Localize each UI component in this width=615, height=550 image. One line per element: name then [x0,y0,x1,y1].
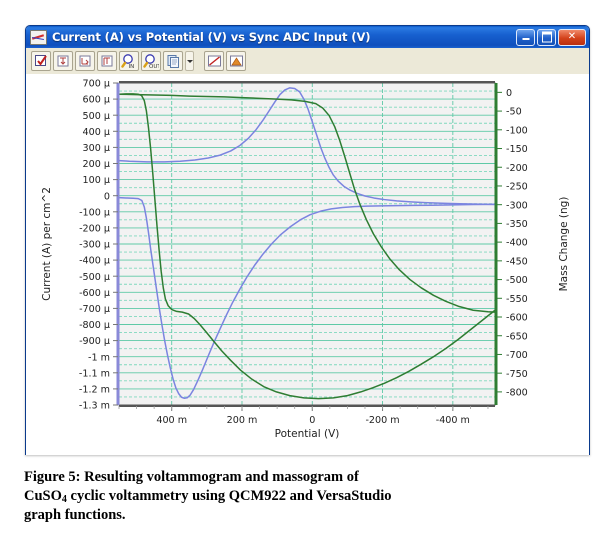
copy-tool[interactable] [163,51,183,71]
caption-line-1: Figure 5: Resulting voltammogram and mas… [24,468,590,487]
x-tick-label: 400 m [156,415,187,426]
left-tick-label: -1.2 m [79,385,110,396]
left-tick-label: -400 µ [79,256,110,267]
x-tick-label: -200 m [365,415,399,426]
zoom-in-icon: IN [121,53,137,69]
right-tick-label: -650 [506,331,528,342]
right-tick-label: -100 [506,125,528,136]
right-tick-label: -500 [506,275,528,286]
left-tick-label: 0 [104,191,110,202]
caption-line-3: graph functions. [24,506,590,525]
fill-style-icon [229,54,244,69]
y2-axis-title: Mass Change (ng) [558,197,570,292]
graph-window: Current (A) vs Potential (V) vs Sync ADC… [25,25,590,455]
right-tick-label: -600 [506,313,528,324]
right-tick-label: -550 [506,294,528,305]
select-icon [34,54,49,69]
left-tick-label: 700 µ [83,79,110,90]
left-tick-label: 500 µ [83,111,110,122]
title-bar[interactable]: Current (A) vs Potential (V) vs Sync ADC… [26,26,589,48]
zoom-out-icon: OUT [143,53,159,69]
left-tick-label: 600 µ [83,95,110,106]
fill-style-tool[interactable] [226,51,246,71]
right-tick-label: 0 [506,88,512,99]
left-tick-label: -1 m [88,352,110,363]
chart-line-icon [30,30,47,45]
line-style-tool[interactable] [204,51,224,71]
autoscale-x-tool[interactable] [75,51,95,71]
right-tick-label: -250 [506,182,528,193]
left-tick-label: 200 µ [83,159,110,170]
right-tick-label: -50 [506,107,522,118]
svg-text:OUT: OUT [149,64,159,69]
autoscale-both-icon [100,54,115,69]
left-tick-label: -200 µ [79,224,110,235]
chart-render-group: 700 µ600 µ500 µ400 µ300 µ200 µ100 µ0-100… [41,79,570,440]
close-button[interactable]: ✕ [558,29,586,46]
maximize-button[interactable] [537,29,556,46]
left-tick-label: 300 µ [83,143,110,154]
window-controls: ✕ [516,29,587,46]
left-tick-label: -800 µ [79,320,110,331]
right-tick-label: -800 [506,387,528,398]
left-tick-label: -300 µ [79,240,110,251]
right-tick-label: -300 [506,200,528,211]
caption-line-2: CuSO4 cyclic voltammetry using QCM922 an… [24,487,590,506]
x-tick-label: 200 m [227,415,258,426]
caption-compound: CuSO [24,488,62,504]
right-tick-label: -350 [506,219,528,230]
left-tick-label: -1.3 m [79,401,110,412]
line-style-icon [207,54,222,69]
right-tick-label: -450 [506,256,528,267]
left-tick-label: -700 µ [79,304,110,315]
copy-icon [166,54,181,69]
right-tick-label: -700 [506,350,528,361]
left-tick-label: -100 µ [79,207,110,218]
caption-line-2-rest: cyclic voltammetry using QCM922 and Vers… [67,488,392,504]
left-tick-label: -900 µ [79,336,110,347]
copy-dropdown[interactable] [185,51,194,71]
chart-panel: 700 µ600 µ500 µ400 µ300 µ200 µ100 µ0-100… [26,74,589,454]
right-tick-label: -200 [506,163,528,174]
right-tick-label: -750 [506,369,528,380]
left-tick-label: -600 µ [79,288,110,299]
select-tool[interactable] [31,51,51,71]
left-tick-label: -1.1 m [79,368,110,379]
graph-toolbar: IN OUT [26,48,589,75]
minimize-button[interactable] [516,29,535,46]
window-title: Current (A) vs Potential (V) vs Sync ADC… [52,30,516,44]
left-tick-label: 400 µ [83,127,110,138]
x-tick-label: 0 [309,415,315,426]
voltammogram-chart[interactable]: 700 µ600 µ500 µ400 µ300 µ200 µ100 µ0-100… [26,75,589,455]
y-axis-title: Current (A) per cm^2 [41,187,53,301]
right-tick-label: -150 [506,144,528,155]
x-tick-label: -400 m [436,415,470,426]
autoscale-y-tool[interactable] [53,51,73,71]
zoom-out-tool[interactable]: OUT [141,51,161,71]
figure-caption: Figure 5: Resulting voltammogram and mas… [24,468,590,525]
zoom-in-tool[interactable]: IN [119,51,139,71]
x-axis-title: Potential (V) [275,428,340,440]
right-tick-label: -400 [506,238,528,249]
autoscale-both-tool[interactable] [97,51,117,71]
autoscale-x-icon [78,54,93,69]
svg-text:IN: IN [129,64,135,69]
left-tick-label: 100 µ [83,175,110,186]
left-tick-label: -500 µ [79,272,110,283]
autoscale-y-icon [56,54,71,69]
